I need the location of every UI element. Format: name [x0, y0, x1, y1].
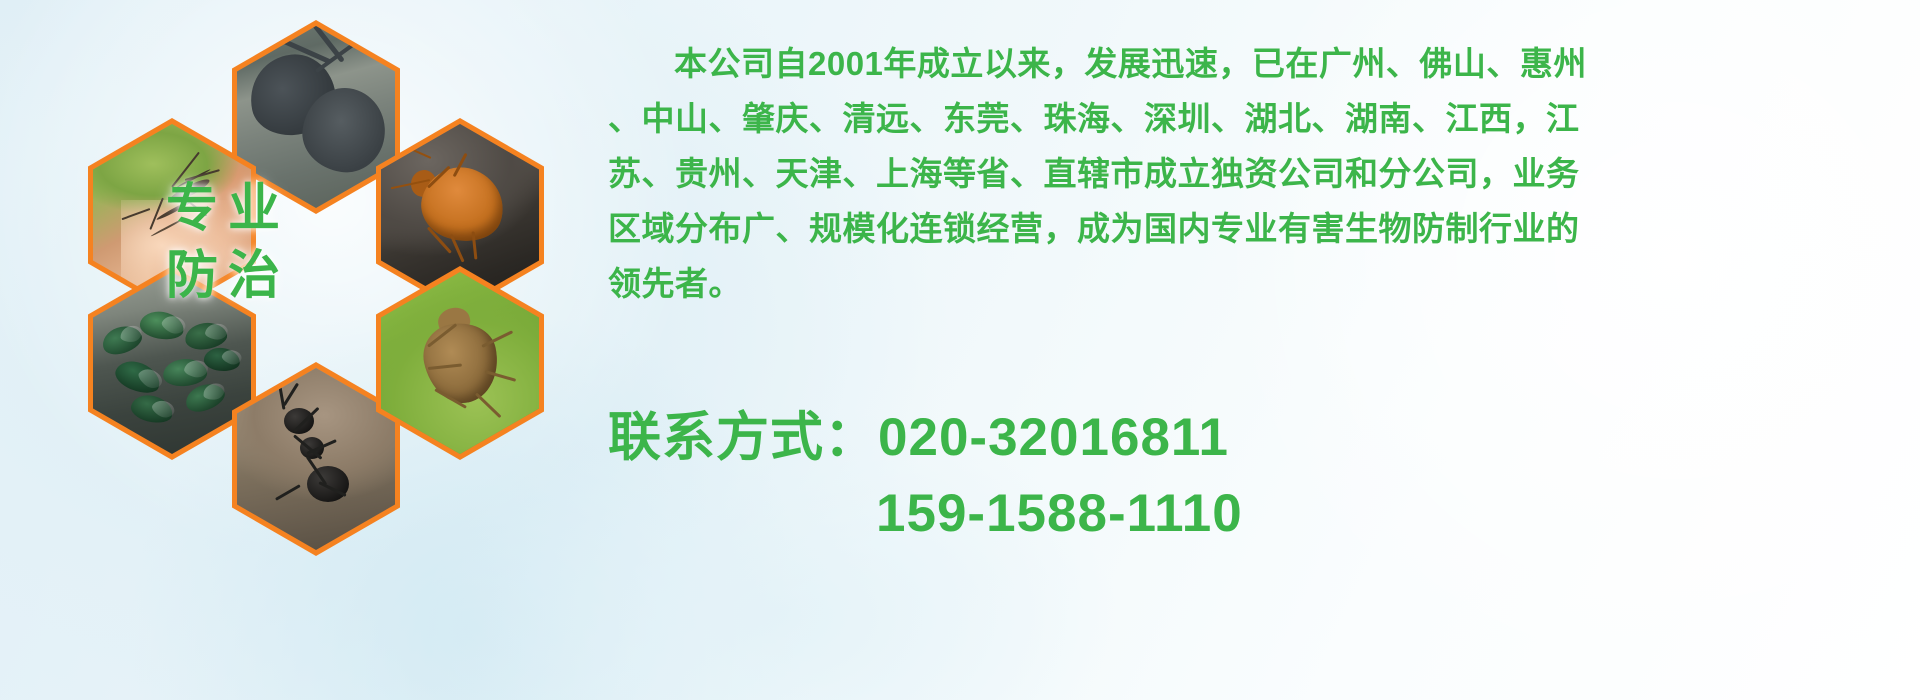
intro-line-3: 苏、贵州、天津、上海等省、直辖市成立独资公司和分公司，业务 — [608, 146, 1900, 201]
intro-line-5: 领先者。 — [608, 256, 1900, 311]
contact-secondary-line[interactable]: 159-1588-1110 — [608, 476, 1900, 552]
honeycomb-photo-cluster — [88, 14, 588, 554]
flies-photo — [88, 266, 256, 460]
ant-photo — [232, 362, 400, 556]
intro-line-2: 、中山、肇庆、清远、东莞、珠海、深圳、湖北、湖南、江西，江 — [608, 91, 1900, 146]
rodent-tails — [237, 26, 395, 208]
contact-block: 联系方式：020-32016811 159-1588-1110 — [608, 400, 1900, 552]
intro-line-1: 本公司自2001年成立以来，发展迅速，已在广州、佛山、惠州 — [608, 36, 1900, 91]
rodents-photo — [232, 20, 400, 214]
company-intro: 本公司自2001年成立以来，发展迅速，已在广州、佛山、惠州 、中山、肇庆、清远、… — [608, 36, 1900, 311]
promo-banner: 专业 防治 本公司自2001年成立以来，发展迅速，已在广州、佛山、惠州 、中山、… — [0, 0, 1920, 700]
stinkbug-photo — [376, 266, 544, 460]
intro-line-4: 区域分布广、规模化连锁经营，成为国内专业有害生物防制行业的 — [608, 201, 1900, 256]
contact-primary-line[interactable]: 联系方式：020-32016811 — [608, 400, 1900, 476]
